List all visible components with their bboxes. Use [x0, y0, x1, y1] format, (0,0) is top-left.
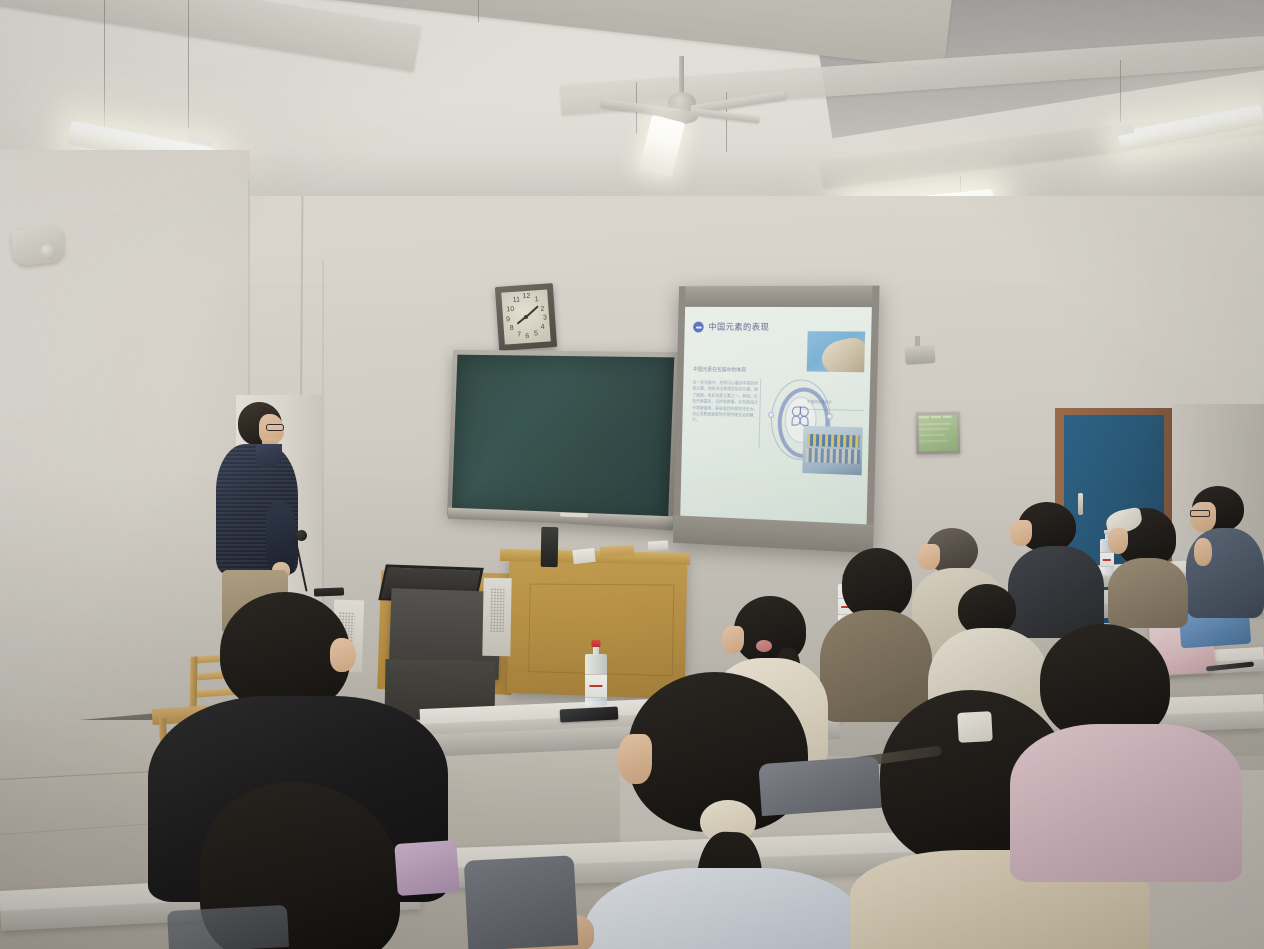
notice-line — [931, 416, 941, 418]
chalkboard-surface — [452, 355, 675, 526]
clock-number: 8 — [510, 325, 514, 332]
slide-image-landscape — [807, 331, 865, 372]
clock-number: 4 — [541, 324, 545, 331]
console-side-panel — [482, 578, 511, 656]
person-coat — [1108, 558, 1188, 628]
slide-bullet-icon — [693, 322, 704, 333]
microphone-head-icon — [296, 530, 307, 541]
clock-number: 12 — [522, 293, 530, 301]
notice-line — [943, 416, 952, 418]
presentation-slide: 中国元素的表现 中国元素在包装中的体现 在一些包装中，经常可以看到中国的传统元素… — [680, 307, 872, 525]
slide-body-text: 在一些包装中，经常可以看到中国的传统元素，例如书法等视觉化的元素。除了图案，色彩… — [692, 380, 760, 426]
hair-tie-accessory — [756, 640, 772, 652]
clock-face: 12 1 2 3 4 5 6 7 8 9 10 11 — [501, 289, 551, 344]
desk-cup — [957, 711, 993, 743]
audience-member — [1010, 624, 1240, 874]
glasses-icon — [1190, 510, 1210, 517]
podium-remote — [648, 540, 669, 550]
clock-number: 1 — [535, 296, 539, 303]
clock-number: 3 — [543, 315, 547, 322]
slide-image-stripe — [806, 448, 861, 464]
person-face — [722, 626, 744, 654]
person-face — [1108, 528, 1128, 554]
slide-petal-icon — [799, 416, 808, 426]
notice-line — [919, 440, 949, 442]
wall-notice-board — [916, 412, 961, 455]
light-suspension-wire — [1120, 60, 1121, 122]
presenter-collar — [256, 444, 282, 468]
audience-member — [1106, 504, 1192, 624]
clock-number: 11 — [513, 296, 521, 303]
person-face — [1190, 502, 1216, 532]
wall-clock: 12 1 2 3 4 5 6 7 8 9 10 11 — [495, 283, 557, 351]
slide-image-stripe — [807, 434, 860, 448]
person-ear — [330, 638, 356, 672]
notice-board-surface — [919, 415, 958, 452]
slide-subheading: 中国元素在包装中的体现 — [693, 366, 746, 374]
purple-notebook — [394, 840, 459, 896]
seat-back — [464, 855, 579, 949]
light-suspension-wire — [478, 0, 479, 22]
notice-line — [919, 434, 945, 436]
glasses-icon — [266, 424, 284, 431]
clock-number: 6 — [525, 333, 529, 340]
notice-line — [919, 428, 949, 430]
podium-papers — [572, 548, 595, 564]
clock-number: 9 — [506, 316, 510, 323]
green-chalkboard — [447, 350, 680, 531]
slide-ring-node — [827, 413, 833, 419]
seat-back — [758, 756, 881, 816]
audience-member — [1186, 486, 1264, 616]
person-shirt — [584, 868, 866, 949]
podium-black-object — [541, 527, 559, 567]
person-face — [1010, 520, 1032, 546]
podium-folder — [600, 545, 634, 557]
light-suspension-wire — [188, 0, 189, 128]
lecture-hall-photo: 12 1 2 3 4 5 6 7 8 9 10 11 中国元素的表现 — [0, 0, 1264, 949]
clock-number: 10 — [506, 306, 514, 314]
console-vent-grille — [490, 588, 505, 632]
slide-image-caption: 中国风包装设计 — [807, 400, 832, 406]
clock-number: 5 — [534, 330, 538, 337]
ceiling-projector — [904, 345, 935, 365]
ceiling-fan-rod — [679, 56, 684, 96]
slide-image-pattern — [802, 426, 863, 475]
projection-screen: 中国元素的表现 中国元素在包装中的体现 在一些包装中，经常可以看到中国的传统元素… — [673, 286, 880, 554]
bottle-cap — [592, 640, 601, 647]
notice-line — [919, 423, 951, 425]
slide-title: 中国元素的表现 — [708, 321, 769, 333]
clock-number: 7 — [517, 331, 521, 338]
wall-speaker — [10, 225, 65, 266]
person-hand — [1194, 538, 1212, 566]
clock-number: 2 — [540, 306, 544, 313]
speaker-cone-icon — [40, 244, 56, 260]
notice-line — [919, 416, 929, 418]
clock-center-pin — [524, 315, 528, 319]
seat-back — [167, 905, 289, 949]
screen-top-bar — [679, 286, 880, 307]
person-ear — [618, 734, 652, 784]
slide-image-shape — [819, 335, 865, 373]
person-sweater — [1010, 724, 1242, 882]
